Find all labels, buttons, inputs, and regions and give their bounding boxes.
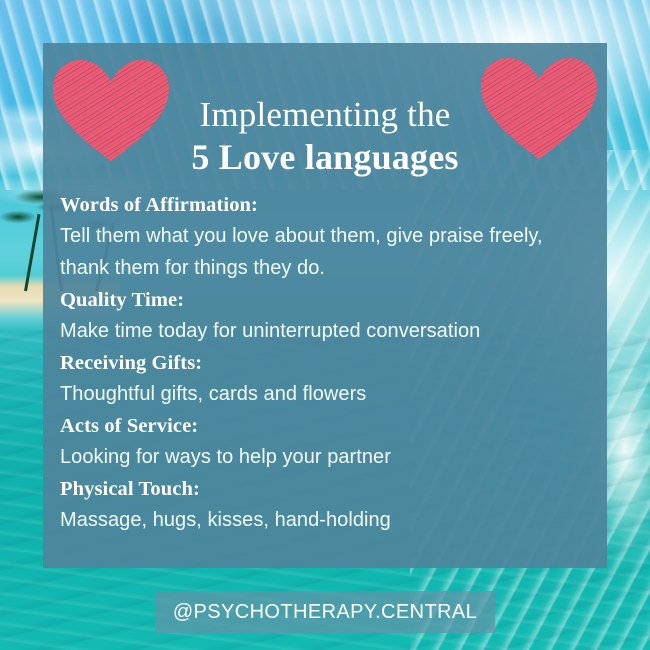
language-description: Looking for ways to help your partner — [60, 441, 595, 473]
language-description: Thoughtful gifts, cards and flowers — [60, 378, 595, 410]
palm-trunk — [24, 214, 40, 291]
language-description: Make time today for uninterrupted conver… — [60, 315, 595, 347]
social-media-poster: Implementing the 5 Love languages Words … — [0, 0, 650, 650]
language-heading: Quality Time: — [60, 285, 595, 315]
content-panel: Implementing the 5 Love languages Words … — [43, 43, 607, 568]
footer-handle-box: @PSYCHOTHERAPY.CENTRAL — [155, 591, 495, 633]
list-item: Words of Affirmation: Tell them what you… — [60, 190, 595, 284]
language-heading: Words of Affirmation: — [60, 190, 595, 220]
language-description: Massage, hugs, kisses, hand-holding — [60, 504, 595, 536]
social-handle: @PSYCHOTHERAPY.CENTRAL — [173, 601, 477, 624]
page-title: Implementing the 5 Love languages — [43, 95, 607, 180]
list-item: Acts of Service: Looking for ways to hel… — [60, 411, 595, 473]
title-line-1: Implementing the — [43, 95, 607, 135]
love-languages-list: Words of Affirmation: Tell them what you… — [60, 190, 595, 537]
list-item: Receiving Gifts: Thoughtful gifts, cards… — [60, 348, 595, 410]
list-item: Physical Touch: Massage, hugs, kisses, h… — [60, 474, 595, 536]
language-heading: Acts of Service: — [60, 411, 595, 441]
title-line-2: 5 Love languages — [43, 135, 607, 180]
language-description: Tell them what you love about them, give… — [60, 220, 595, 284]
language-heading: Physical Touch: — [60, 474, 595, 504]
language-heading: Receiving Gifts: — [60, 348, 595, 378]
list-item: Quality Time: Make time today for uninte… — [60, 285, 595, 347]
